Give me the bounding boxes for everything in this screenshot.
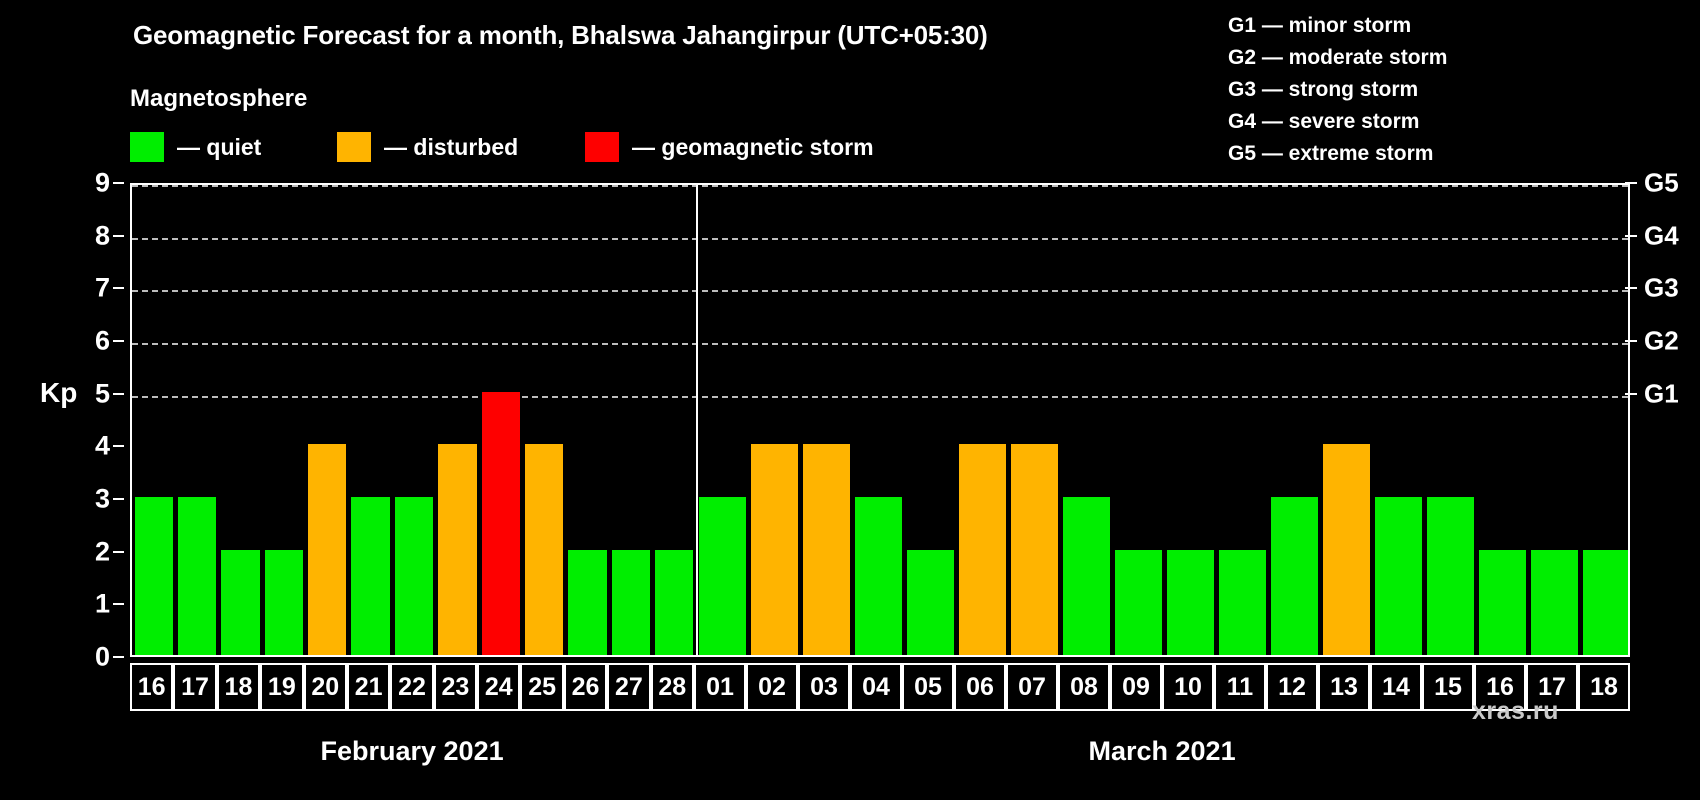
g-tick-mark-G3 [1625,287,1637,289]
orange-square-icon [337,132,371,162]
plot-inner [132,185,1628,655]
gridline-kp-6 [132,343,1628,345]
date-label-24[interactable]: 12 [1266,663,1318,711]
month-caption-0: February 2021 [321,736,504,767]
y-tick-label-1: 1 [95,589,110,620]
watermark: xras.ru [1472,697,1559,726]
date-label-17[interactable]: 05 [902,663,954,711]
bar-21[interactable] [351,497,389,655]
g-scale-legend-item-3: G3 — strong storm [1228,74,1447,106]
y-tick-label-9: 9 [95,168,110,199]
g-scale-legend-item-1: G1 — minor storm [1228,10,1447,42]
g-tick-mark-G1 [1625,393,1637,395]
y-tick-mark-2 [113,551,124,553]
bar-25[interactable] [525,444,563,655]
bar-20[interactable] [308,444,346,655]
plot-area [130,183,1630,657]
date-label-18[interactable]: 06 [954,663,1006,711]
bar-24[interactable] [482,392,520,655]
date-label-8[interactable]: 24 [477,663,520,711]
y-tick-mark-1 [113,603,124,605]
date-label-14[interactable]: 02 [746,663,798,711]
page-title: Geomagnetic Forecast for a month, Bhalsw… [133,20,988,51]
y-tick-label-5: 5 [95,378,110,409]
bar-02[interactable] [751,444,798,655]
bar-05[interactable] [907,550,954,655]
y-tick-mark-8 [113,235,124,237]
legend-item-0: — quiet [130,132,261,162]
y-tick-label-6: 6 [95,326,110,357]
gridline-kp-9 [132,185,1628,187]
date-label-11[interactable]: 27 [607,663,650,711]
date-label-1[interactable]: 17 [173,663,216,711]
bar-16[interactable] [1479,550,1526,655]
date-label-5[interactable]: 21 [347,663,390,711]
date-label-4[interactable]: 20 [304,663,347,711]
gridline-kp-5 [132,396,1628,398]
date-label-12[interactable]: 28 [651,663,694,711]
g-tick-mark-G2 [1625,340,1637,342]
bar-10[interactable] [1167,550,1214,655]
g-scale-legend-item-4: G4 — severe storm [1228,106,1447,138]
g-tick-label-G3: G3 [1644,273,1679,304]
date-label-10[interactable]: 26 [564,663,607,711]
bar-09[interactable] [1115,550,1162,655]
y-axis-title: Kp [40,377,77,409]
y-tick-mark-7 [113,287,124,289]
y-tick-label-0: 0 [95,642,110,673]
date-label-25[interactable]: 13 [1318,663,1370,711]
legend-label: — geomagnetic storm [632,134,874,161]
bar-17[interactable] [1531,550,1578,655]
date-label-19[interactable]: 07 [1006,663,1058,711]
bar-28[interactable] [655,550,693,655]
gridline-kp-7 [132,290,1628,292]
date-label-22[interactable]: 10 [1162,663,1214,711]
date-label-3[interactable]: 19 [260,663,303,711]
legend-label: — quiet [177,134,261,161]
y-tick-label-3: 3 [95,484,110,515]
bar-08[interactable] [1063,497,1110,655]
bar-16[interactable] [135,497,173,655]
date-label-20[interactable]: 08 [1058,663,1110,711]
g-scale-legend: G1 — minor stormG2 — moderate stormG3 — … [1228,10,1447,170]
date-label-15[interactable]: 03 [798,663,850,711]
date-label-9[interactable]: 25 [520,663,563,711]
y-axis: 0123456789 [0,183,126,657]
date-label-6[interactable]: 22 [390,663,433,711]
date-label-2[interactable]: 18 [217,663,260,711]
gridline-kp-8 [132,238,1628,240]
g-tick-mark-G5 [1625,182,1637,184]
geomagnetic-forecast-chart: Geomagnetic Forecast for a month, Bhalsw… [0,0,1700,800]
bar-23[interactable] [438,444,476,655]
date-label-16[interactable]: 04 [850,663,902,711]
magnetosphere-label: Magnetosphere [130,85,307,113]
y-tick-label-8: 8 [95,220,110,251]
y-tick-mark-0 [113,656,124,658]
legend-item-1: — disturbed [337,132,518,162]
bar-07[interactable] [1011,444,1058,655]
month-caption-1: March 2021 [1089,736,1236,767]
bar-04[interactable] [855,497,902,655]
y-tick-label-4: 4 [95,431,110,462]
red-square-icon [585,132,619,162]
bar-17[interactable] [178,497,216,655]
g-scale-axis: G1G2G3G4G5 [1632,183,1700,657]
date-label-13[interactable]: 01 [694,663,746,711]
date-label-7[interactable]: 23 [434,663,477,711]
legend-item-2: — geomagnetic storm [585,132,874,162]
y-tick-mark-9 [113,182,124,184]
date-label-26[interactable]: 14 [1370,663,1422,711]
y-tick-mark-4 [113,445,124,447]
bar-26[interactable] [568,550,606,655]
g-scale-legend-item-2: G2 — moderate storm [1228,42,1447,74]
bar-14[interactable] [1375,497,1422,655]
bar-01[interactable] [699,497,746,655]
date-label-21[interactable]: 09 [1110,663,1162,711]
date-label-23[interactable]: 11 [1214,663,1266,711]
y-tick-mark-6 [113,340,124,342]
date-label-0[interactable]: 16 [130,663,173,711]
date-axis: 1617181920212223242526272801020304050607… [130,663,1630,711]
date-label-27[interactable]: 15 [1422,663,1474,711]
bar-03[interactable] [803,444,850,655]
bar-15[interactable] [1427,497,1474,655]
y-tick-mark-5 [113,393,124,395]
g-scale-legend-item-5: G5 — extreme storm [1228,138,1447,170]
bar-11[interactable] [1219,550,1266,655]
green-square-icon [130,132,164,162]
g-tick-label-G2: G2 [1644,326,1679,357]
bar-12[interactable] [1271,497,1318,655]
g-tick-mark-G4 [1625,235,1637,237]
bar-22[interactable] [395,497,433,655]
y-tick-label-2: 2 [95,536,110,567]
bar-18[interactable] [1583,550,1629,655]
legend-label: — disturbed [384,134,518,161]
g-tick-label-G1: G1 [1644,378,1679,409]
bar-19[interactable] [265,550,303,655]
g-tick-label-G5: G5 [1644,168,1679,199]
y-tick-mark-3 [113,498,124,500]
bar-27[interactable] [612,550,650,655]
y-tick-label-7: 7 [95,273,110,304]
g-tick-label-G4: G4 [1644,220,1679,251]
bar-13[interactable] [1323,444,1370,655]
date-label-30[interactable]: 18 [1578,663,1630,711]
bar-06[interactable] [959,444,1006,655]
bar-18[interactable] [221,550,259,655]
